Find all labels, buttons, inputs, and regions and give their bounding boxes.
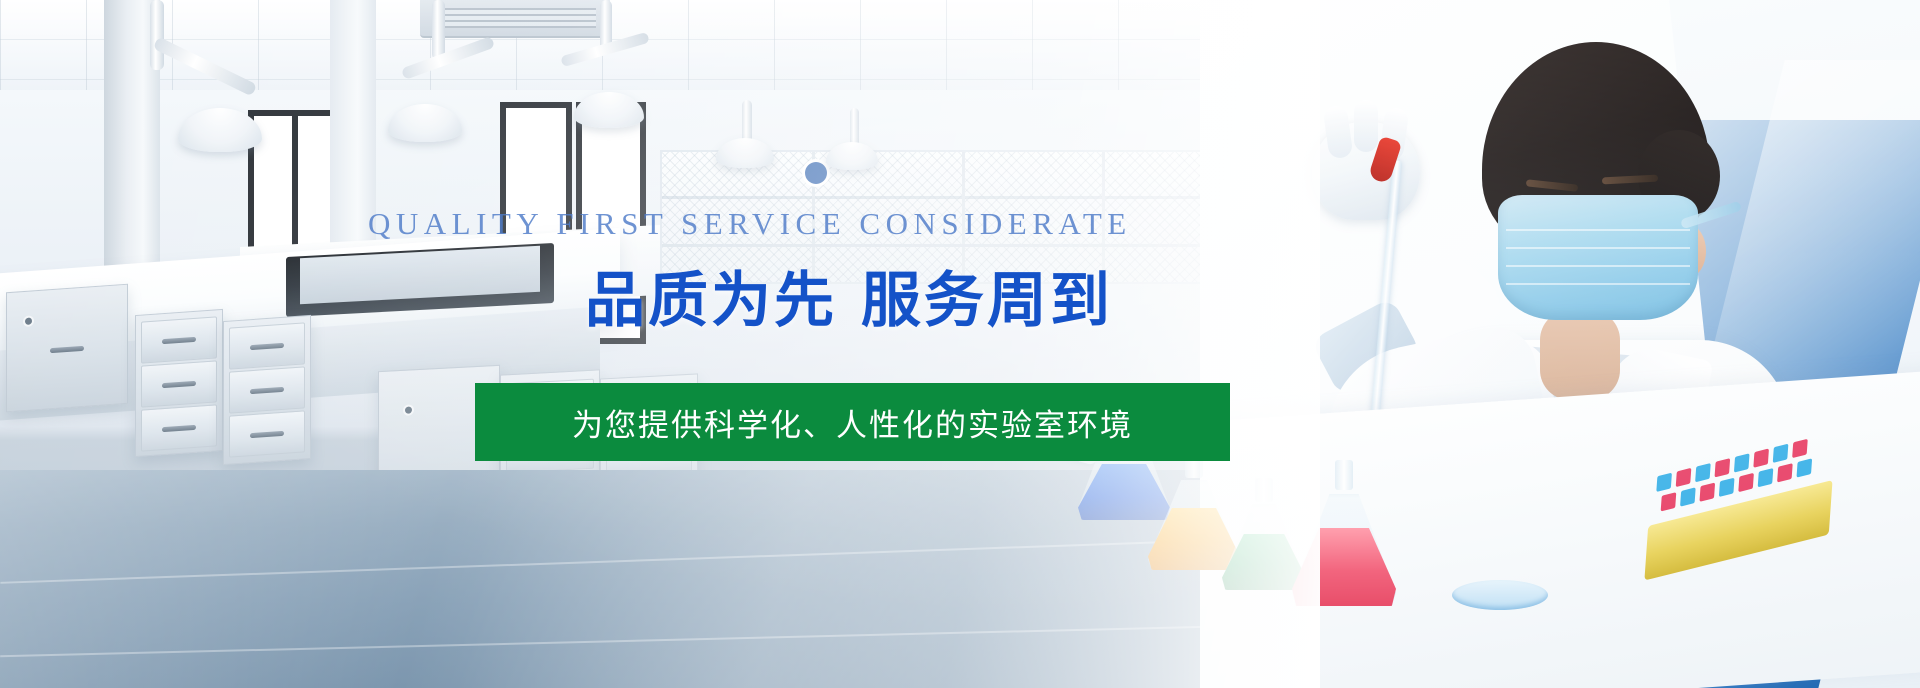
chinese-headline: 品质为先 服务周到 xyxy=(585,252,1113,339)
green-subtitle-text: 为您提供科学化、人性化的实验室环境 xyxy=(572,400,1133,445)
green-subtitle-bar: 为您提供科学化、人性化的实验室环境 xyxy=(475,383,1230,461)
text-overlay: QUALITY FIRST SERVICE CONSIDERATE 品质为先 服… xyxy=(0,0,1920,688)
english-tagline: QUALITY FIRST SERVICE CONSIDERATE xyxy=(368,206,1132,242)
hero-banner: QUALITY FIRST SERVICE CONSIDERATE 品质为先 服… xyxy=(0,0,1920,688)
